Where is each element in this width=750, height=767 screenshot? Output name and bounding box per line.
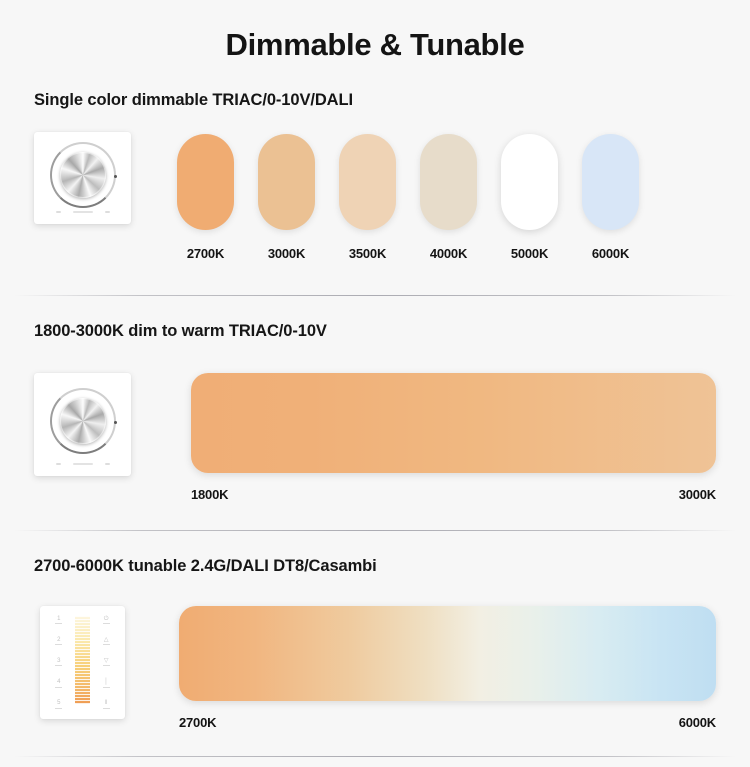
swatch-label: 4000K: [430, 246, 467, 261]
key-underline-icon: [55, 687, 62, 688]
gradient-end-label: 6000K: [679, 715, 716, 730]
rotary-knob-icon[interactable]: [60, 152, 106, 198]
key-underline-icon: [55, 708, 62, 709]
scene-key-label: 3: [54, 658, 64, 664]
control-key-column: ⏻ △ ▽ │: [94, 616, 118, 709]
swatch-pill[interactable]: [582, 134, 639, 230]
swatch-label: 3500K: [349, 246, 386, 261]
down-icon[interactable]: ▽: [101, 658, 111, 667]
tunable-white-gradient-block: 2700K 6000K: [179, 606, 716, 730]
swatch-pill[interactable]: [420, 134, 477, 230]
swatch-pill[interactable]: [339, 134, 396, 230]
scene-key-column: 1 2 3 4: [47, 616, 71, 709]
dim-to-warm-row: 1800K 3000K: [34, 373, 716, 502]
swatch-3000k[interactable]: 3000K: [258, 134, 315, 261]
scale-mark-icon: [73, 463, 93, 465]
max-mark-icon: [105, 211, 110, 213]
swatch-4000k[interactable]: 4000K: [420, 134, 477, 261]
section-title-single-color: Single color dimmable TRIAC/0-10V/DALI: [34, 91, 716, 110]
rotary-scale-marks: [56, 463, 110, 465]
swatch-pill[interactable]: [177, 134, 234, 230]
section-tunable-white: 2700-6000K tunable 2.4G/DALI DT8/Casambi…: [0, 557, 750, 730]
scene-key-2[interactable]: 2: [54, 637, 64, 646]
device-rotary-dimmer-1[interactable]: [34, 132, 131, 224]
swatch-label: 5000K: [511, 246, 548, 261]
cct-swatch-group: 2700K 3000K 3500K 4000K 5000K: [177, 132, 639, 261]
tunable-white-row: 1 2 3 4: [34, 606, 716, 730]
key-underline-icon: [103, 687, 110, 688]
swatch-5000k[interactable]: 5000K: [501, 134, 558, 261]
key-underline-icon: [103, 708, 110, 709]
swatch-label: 3000K: [268, 246, 305, 261]
tunable-white-gradient-bar[interactable]: [179, 606, 716, 701]
dim-to-warm-gradient-block: 1800K 3000K: [191, 373, 716, 502]
rotary-knob-icon[interactable]: [60, 398, 106, 444]
scene-key-label: 5: [54, 700, 64, 706]
gradient-start-label: 2700K: [179, 715, 216, 730]
min-mark-icon: [56, 463, 61, 465]
section-dim-to-warm: 1800-3000K dim to warm TRIAC/0-10V 1800K…: [0, 322, 750, 502]
pause-icon[interactable]: ‖: [101, 700, 111, 709]
scene-key-4[interactable]: 4: [54, 679, 64, 688]
max-mark-icon: [105, 463, 110, 465]
swatch-label: 2700K: [187, 246, 224, 261]
scene-key-5[interactable]: 5: [54, 700, 64, 709]
key-underline-icon: [103, 623, 110, 624]
scene-key-3[interactable]: 3: [54, 658, 64, 667]
swatch-pill[interactable]: [258, 134, 315, 230]
key-underline-icon: [103, 665, 110, 666]
section-divider-3: [14, 756, 736, 757]
home-icon[interactable]: △: [101, 637, 111, 646]
dim-to-warm-gradient-bar[interactable]: [191, 373, 716, 473]
min-mark-icon: [56, 211, 61, 213]
poster-canvas: Dimmable & Tunable Single color dimmable…: [0, 0, 750, 767]
scene-key-1[interactable]: 1: [54, 616, 64, 625]
touch-panel-face: 1 2 3 4: [40, 606, 125, 719]
section-divider-2: [14, 530, 736, 531]
minus-icon[interactable]: │: [101, 679, 111, 688]
brightness-slider[interactable]: [75, 616, 90, 704]
key-underline-icon: [55, 623, 62, 624]
key-underline-icon: [103, 644, 110, 645]
device-touch-panel[interactable]: 1 2 3 4: [40, 606, 125, 719]
scene-key-label: 1: [54, 616, 64, 622]
page-title: Dimmable & Tunable: [0, 0, 750, 63]
swatch-pill[interactable]: [501, 134, 558, 230]
single-color-row: 2700K 3000K 3500K 4000K 5000K: [34, 132, 716, 261]
scene-key-label: 2: [54, 637, 64, 643]
gradient-end-label: 3000K: [679, 487, 716, 502]
gradient-start-label: 1800K: [191, 487, 228, 502]
swatch-6000k[interactable]: 6000K: [582, 134, 639, 261]
rotary-assembly: [50, 388, 116, 454]
section-title-tunable-white: 2700-6000K tunable 2.4G/DALI DT8/Casambi: [34, 557, 716, 576]
brightness-slider-column: [71, 616, 95, 709]
swatch-3500k[interactable]: 3500K: [339, 134, 396, 261]
key-underline-icon: [55, 665, 62, 666]
scene-key-label: 4: [54, 679, 64, 685]
dim-to-warm-end-labels: 1800K 3000K: [191, 487, 716, 502]
swatch-label: 6000K: [592, 246, 629, 261]
section-divider-1: [14, 295, 736, 296]
rotary-scale-marks: [56, 211, 110, 213]
swatch-2700k[interactable]: 2700K: [177, 134, 234, 261]
device-rotary-dimmer-2[interactable]: [34, 373, 131, 476]
scale-mark-icon: [73, 211, 93, 213]
rotary-assembly: [50, 142, 116, 208]
section-single-color-dimmable: Single color dimmable TRIAC/0-10V/DALI: [0, 91, 750, 261]
power-icon[interactable]: ⏻: [101, 616, 111, 625]
tunable-white-end-labels: 2700K 6000K: [179, 715, 716, 730]
key-underline-icon: [55, 644, 62, 645]
section-title-dim-to-warm: 1800-3000K dim to warm TRIAC/0-10V: [34, 322, 716, 341]
